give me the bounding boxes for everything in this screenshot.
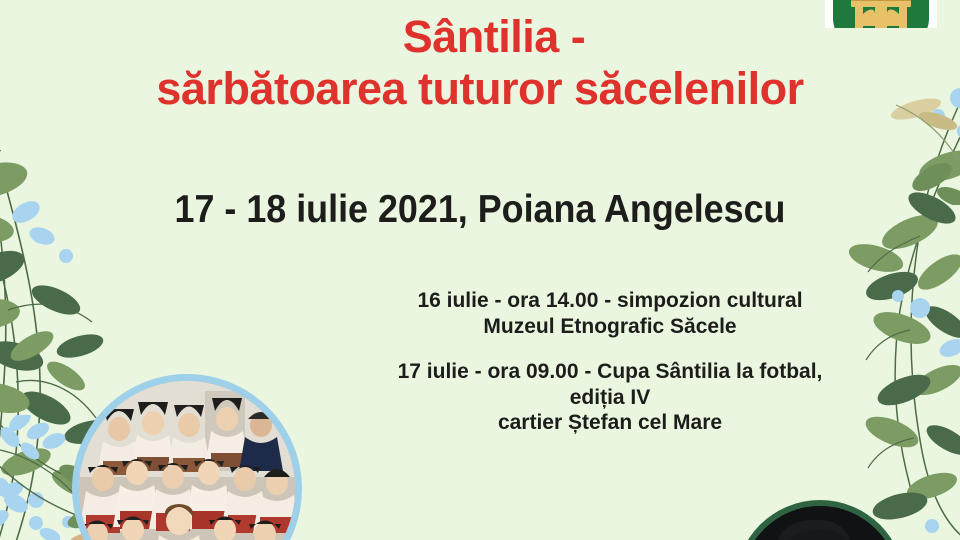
poster-title: Sântilia - sărbătoarea tuturor săcelenil… — [0, 14, 960, 112]
date-location-line: 17 - 18 iulie 2021, Poiana Angelescu — [38, 188, 921, 232]
schedule-entry-line: 16 iulie - ora 14.00 - simpozion cultura… — [280, 288, 940, 314]
portrait-man-with-glasses-photo — [735, 500, 905, 540]
poster-canvas: Sântilia - sărbătoarea tuturor săcelenil… — [0, 0, 960, 540]
schedule-list: 16 iulie - ora 14.00 - simpozion cultura… — [280, 288, 940, 436]
folk-dance-group-photo — [72, 374, 302, 540]
schedule-entry-line: 17 iulie - ora 09.00 - Cupa Sântilia la … — [280, 359, 940, 385]
schedule-entry-line: ediția IV — [280, 385, 940, 411]
schedule-entry: 16 iulie - ora 14.00 - simpozion cultura… — [280, 288, 940, 339]
schedule-entry-line: cartier Ștefan cel Mare — [280, 410, 940, 436]
schedule-entry: 17 iulie - ora 09.00 - Cupa Sântilia la … — [280, 359, 940, 436]
title-line-2: sărbătoarea tuturor săcelenilor — [0, 66, 960, 112]
schedule-entry-line: Muzeul Etnografic Săcele — [280, 314, 940, 340]
title-line-1: Sântilia - — [0, 14, 960, 60]
